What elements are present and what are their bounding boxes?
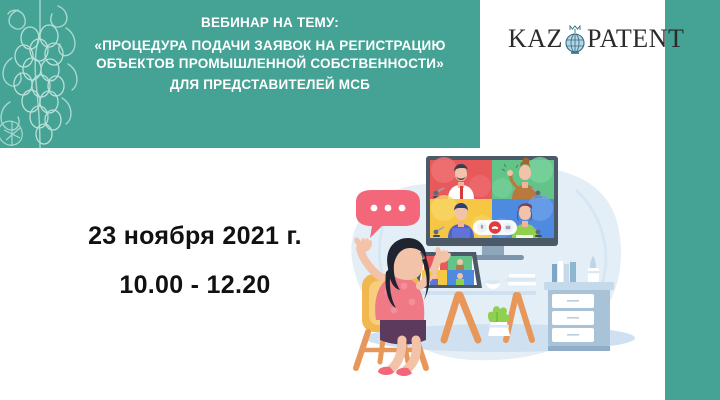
event-date: 23 ноября 2021 г. bbox=[60, 222, 330, 251]
desk-books bbox=[506, 274, 536, 285]
webinar-audience: ДЛЯ ПРЕДСТАВИТЕЛЕЙ МСБ bbox=[60, 76, 480, 94]
mute-icon bbox=[481, 225, 483, 229]
webinar-topic-line-1: «ПРОЦЕДУРА ПОДАЧИ ЗАЯВОК НА РЕГИСТРАЦИЮ bbox=[60, 37, 480, 55]
tv-tile-green bbox=[492, 157, 554, 199]
tv-monitor bbox=[426, 156, 558, 260]
tv-tile-red bbox=[430, 157, 492, 199]
webinar-topic-line-2: ОБЪЕКТОВ ПРОМЫШЛЕННОЙ СОБСТВЕННОСТИ» bbox=[60, 55, 480, 73]
cabinet-books bbox=[552, 261, 576, 282]
logo-text-left: KAZ bbox=[508, 26, 563, 52]
right-accent-bar bbox=[665, 0, 720, 400]
call-controls[interactable] bbox=[473, 220, 517, 235]
webinar-poster: ВЕБИНАР НА ТЕМУ: «ПРОЦЕДУРА ПОДАЧИ ЗАЯВО… bbox=[0, 0, 720, 400]
logo-text-right: PATENT bbox=[587, 26, 684, 52]
event-datetime-block: 23 ноября 2021 г. 10.00 - 12.20 bbox=[60, 222, 330, 300]
kazpatent-logo: KAZ PATENT bbox=[508, 22, 684, 56]
event-time: 10.00 - 12.20 bbox=[60, 271, 330, 300]
webinar-label: ВЕБИНАР НА ТЕМУ: bbox=[60, 14, 480, 32]
header-title-block: ВЕБИНАР НА ТЕМУ: «ПРОЦЕДУРА ПОДАЧИ ЗАЯВО… bbox=[60, 14, 480, 94]
video-icon bbox=[506, 226, 511, 229]
globe-crown-icon bbox=[562, 25, 588, 55]
video-conference-illustration bbox=[340, 140, 670, 400]
